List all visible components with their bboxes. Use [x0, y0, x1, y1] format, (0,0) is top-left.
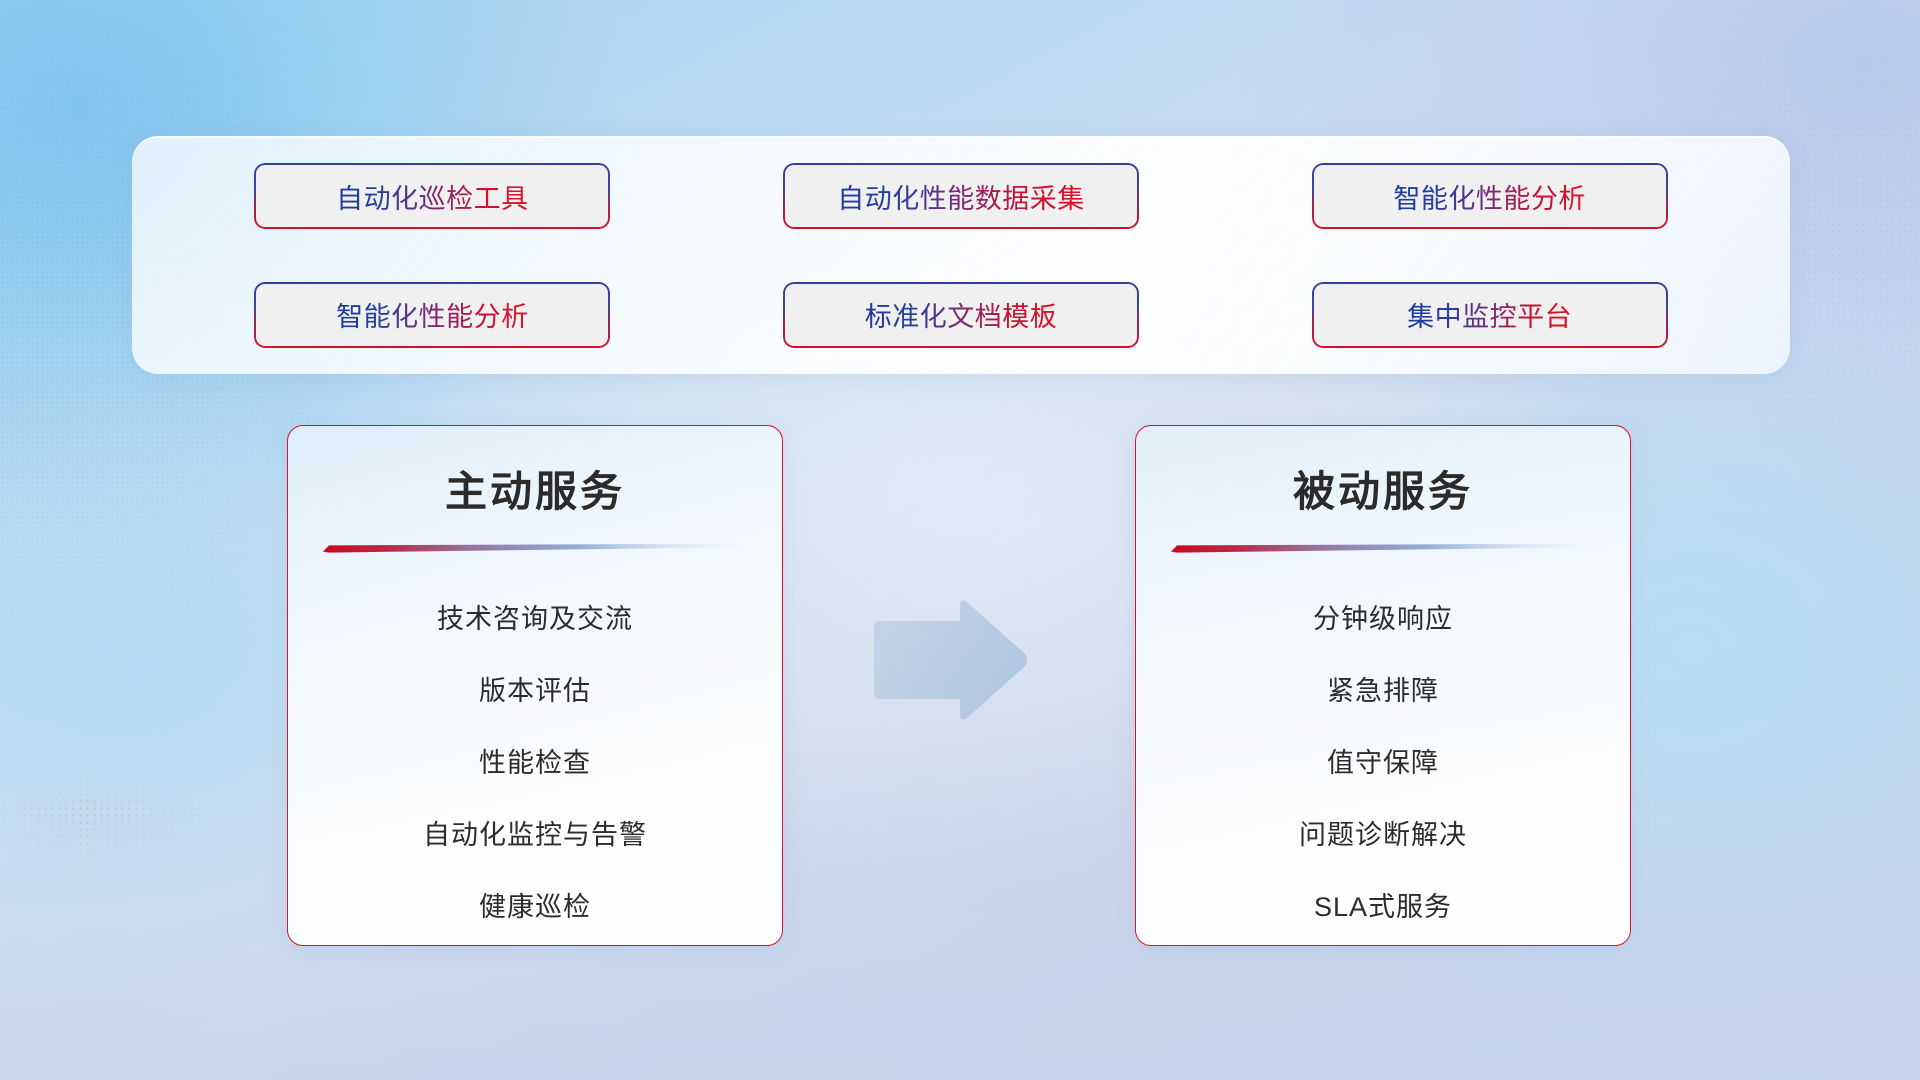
capability-tag-2[interactable]: 自动化性能数据采集: [783, 163, 1139, 229]
list-item: 紧急排障: [1327, 655, 1439, 727]
slide-canvas: 自动化巡检工具 自动化性能数据采集 智能化性能分析 智能化性能分析 标准化文档模…: [0, 0, 1920, 1080]
capability-tag-label: 智能化性能分析: [336, 295, 529, 334]
arrow-right-icon: [868, 598, 1030, 722]
reactive-service-card: 被动服务 分钟级响应 紧急排障 值守保障: [1135, 425, 1631, 946]
proactive-service-list: 技术咨询及交流 版本评估 性能检查 自动化监控与告警 健康巡检: [288, 583, 782, 943]
list-item: 值守保障: [1327, 727, 1439, 799]
title-underline-accent: [323, 543, 747, 553]
list-item: 健康巡检: [479, 871, 591, 943]
capability-tag-panel: 自动化巡检工具 自动化性能数据采集 智能化性能分析 智能化性能分析 标准化文档模…: [132, 136, 1790, 374]
card-title: 主动服务: [288, 458, 782, 519]
list-item: 分钟级响应: [1313, 583, 1453, 655]
capability-tag-5[interactable]: 标准化文档模板: [783, 282, 1139, 348]
capability-tag-3[interactable]: 智能化性能分析: [1312, 163, 1668, 229]
card-title: 被动服务: [1136, 458, 1630, 519]
capability-tag-label: 自动化巡检工具: [336, 177, 529, 216]
proactive-service-card: 主动服务 技术咨询及交流 版本评估 性能检查: [287, 425, 783, 946]
capability-tag-label: 标准化文档模板: [865, 295, 1058, 334]
list-item: 性能检查: [479, 727, 591, 799]
title-underline-accent: [1171, 543, 1595, 553]
capability-tag-4[interactable]: 智能化性能分析: [254, 282, 610, 348]
list-item: SLA式服务: [1314, 871, 1452, 943]
list-item: 技术咨询及交流: [437, 583, 633, 655]
list-item: 版本评估: [479, 655, 591, 727]
capability-tag-6[interactable]: 集中监控平台: [1312, 282, 1668, 348]
list-item: 问题诊断解决: [1299, 799, 1467, 871]
list-item: 自动化监控与告警: [423, 799, 647, 871]
capability-tag-label: 智能化性能分析: [1393, 177, 1586, 216]
capability-tag-1[interactable]: 自动化巡检工具: [254, 163, 610, 229]
reactive-service-list: 分钟级响应 紧急排障 值守保障 问题诊断解决 SLA式服务: [1136, 583, 1630, 943]
capability-tag-label: 自动化性能数据采集: [837, 177, 1085, 216]
capability-tag-label: 集中监控平台: [1407, 295, 1572, 334]
